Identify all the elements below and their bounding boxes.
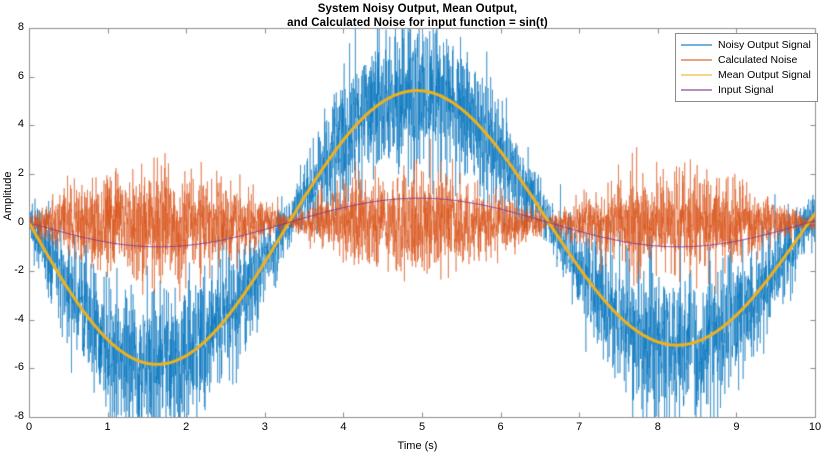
x-tick-label: 8 — [638, 421, 678, 433]
y-tick-label: 2 — [0, 167, 24, 179]
legend-item-label: Mean Output Signal — [718, 69, 811, 81]
legend-item[interactable]: Input Signal — [681, 82, 811, 97]
x-tick-label: 4 — [323, 421, 363, 433]
x-tick-label: 10 — [795, 421, 835, 433]
x-tick-label: 9 — [716, 421, 756, 433]
y-tick-label: 4 — [0, 118, 24, 130]
y-tick-label: -8 — [0, 410, 24, 422]
legend-item[interactable]: Mean Output Signal — [681, 67, 811, 82]
x-tick-label: 6 — [481, 421, 521, 433]
legend-item[interactable]: Noisy Output Signal — [681, 37, 811, 52]
legend: Noisy Output SignalCalculated NoiseMean … — [675, 33, 818, 102]
chart-title: System Noisy Output, Mean Output, and Ca… — [0, 3, 835, 30]
x-tick-label: 3 — [245, 421, 285, 433]
chart-title-line-2: and Calculated Noise for input function … — [0, 17, 835, 31]
x-tick-label: 7 — [559, 421, 599, 433]
y-tick-label: 0 — [0, 216, 24, 228]
legend-color-swatch — [681, 59, 712, 61]
legend-color-swatch — [681, 44, 712, 46]
legend-item-label: Calculated Noise — [718, 54, 797, 66]
y-tick-label: 6 — [0, 70, 24, 82]
x-tick-label: 2 — [166, 421, 206, 433]
legend-item-label: Input Signal — [718, 84, 773, 96]
y-tick-label: -4 — [0, 313, 24, 325]
legend-color-swatch — [681, 89, 712, 91]
x-tick-label: 0 — [9, 421, 49, 433]
legend-item-label: Noisy Output Signal — [718, 39, 811, 51]
legend-item[interactable]: Calculated Noise — [681, 52, 811, 67]
y-tick-label: 8 — [0, 21, 24, 33]
legend-color-swatch — [681, 74, 712, 76]
chart-title-line-1: System Noisy Output, Mean Output, — [0, 3, 835, 17]
x-axis-label: Time (s) — [0, 440, 835, 452]
y-tick-label: -6 — [0, 361, 24, 373]
figure-container: System Noisy Output, Mean Output, and Ca… — [0, 0, 835, 464]
x-tick-label: 1 — [88, 421, 128, 433]
x-tick-label: 5 — [402, 421, 442, 433]
y-tick-label: -2 — [0, 264, 24, 276]
